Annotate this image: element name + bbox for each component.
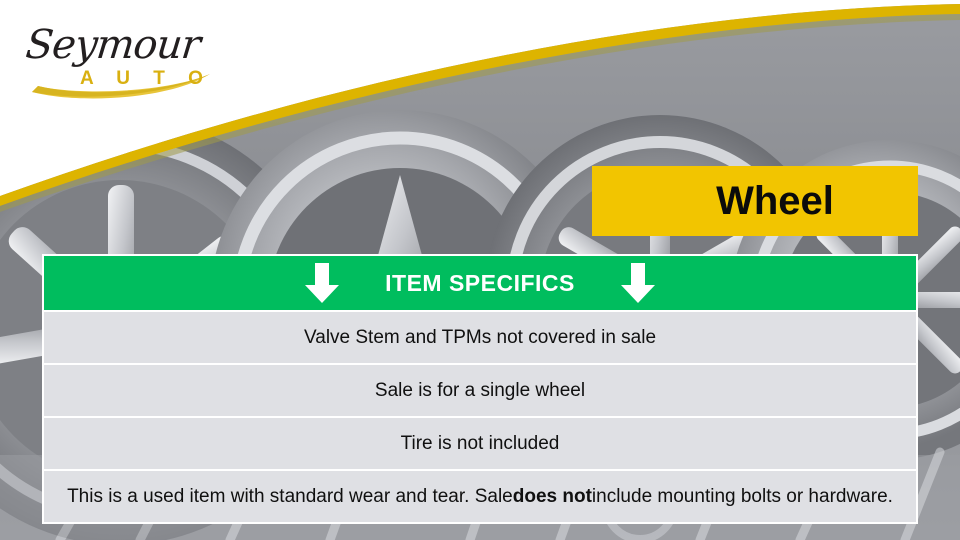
item-specifics-label: ITEM SPECIFICS — [385, 270, 575, 297]
item-specifics-header: ITEM SPECIFICS — [44, 256, 916, 310]
logo-subtitle: A U T O — [80, 68, 212, 90]
spec-row: Sale is for a single wheel — [44, 365, 916, 416]
footer-suffix-text: include mounting bolts or hardware. — [592, 486, 893, 508]
spec-row-text: Valve Stem and TPMs not covered in sale — [304, 327, 656, 349]
down-arrow-icon — [619, 261, 657, 305]
logo-wordmark: Seymour — [24, 22, 202, 68]
spec-row-footer: This is a used item with standard wear a… — [44, 471, 916, 522]
spec-row: Tire is not included — [44, 418, 916, 469]
title-banner: Wheel — [592, 166, 918, 236]
footer-prefix-text: This is a used item with standard wear a… — [67, 486, 513, 508]
spec-row: Valve Stem and TPMs not covered in sale — [44, 312, 916, 363]
spec-row-text: Tire is not included — [401, 433, 560, 455]
footer-emphasis-text: does not — [513, 486, 592, 508]
down-arrow-icon — [303, 261, 341, 305]
spec-row-text: Sale is for a single wheel — [375, 380, 585, 402]
page-title: Wheel — [676, 181, 834, 221]
item-specifics-table: ITEM SPECIFICS Valve Stem and TPMs not c… — [42, 254, 918, 524]
brand-logo: Seymour A U T O — [18, 12, 218, 104]
